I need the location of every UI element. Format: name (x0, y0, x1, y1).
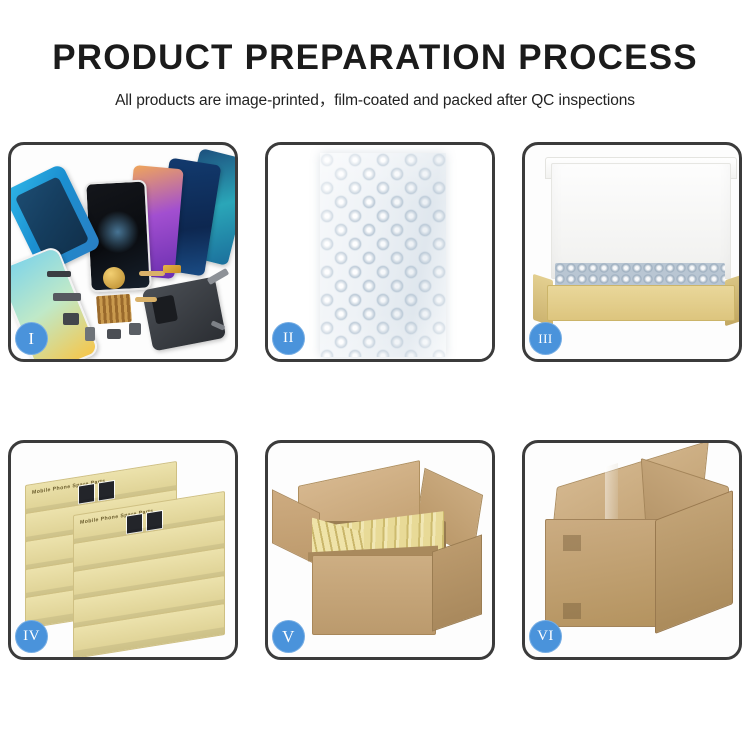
step-panel-iv: Mobile Phone Spare Parts Mobile Phone Sp… (8, 440, 238, 660)
small-part-1 (47, 271, 71, 277)
step-badge-v: V (272, 620, 305, 653)
process-grid: I II III (8, 142, 742, 672)
step-panel-v: V (265, 440, 495, 660)
scene-products (11, 145, 235, 359)
bubble-wrapped-item (320, 153, 446, 357)
step-badge-ii: II (272, 322, 305, 355)
step-panel-ii: II (265, 142, 495, 362)
flex-cable-2 (135, 297, 157, 302)
step-badge-i: I (15, 322, 48, 355)
flex-cable-1 (139, 271, 165, 276)
step-panel-iii: III (522, 142, 742, 362)
step-badge-iii: III (529, 322, 562, 355)
step-badge-vi: VI (529, 620, 562, 653)
scene-carton-filling (268, 443, 492, 657)
small-part-5 (107, 329, 121, 339)
box-edge (74, 627, 224, 657)
box-stack: Mobile Phone Spare Parts Mobile Phone Sp… (15, 457, 235, 653)
chip-grid-part (96, 294, 132, 324)
small-part-2 (53, 293, 81, 301)
header: PRODUCT PREPARATION PROCESS All products… (0, 0, 750, 110)
scene-bubble-wrap (268, 145, 492, 359)
carton-seam-top (563, 535, 581, 551)
carton-seam-bottom (563, 603, 581, 619)
box-front-panel (547, 285, 735, 321)
small-part-4 (85, 327, 95, 341)
carton-front-panel (312, 555, 436, 635)
tool-tweezer (207, 268, 230, 285)
gold-part-1 (163, 265, 181, 273)
carton-side-panel (432, 534, 482, 631)
small-part-6 (129, 323, 141, 335)
page-title: PRODUCT PREPARATION PROCESS (0, 40, 750, 75)
infographic-page: PRODUCT PREPARATION PROCESS All products… (0, 0, 750, 750)
phone-back-housing (142, 277, 226, 352)
box-lid (551, 163, 731, 279)
step-panel-vi: VI (522, 440, 742, 660)
step-panel-i: I (8, 142, 238, 362)
page-subtitle: All products are image-printed，film-coat… (0, 88, 750, 110)
small-part-3 (63, 313, 79, 325)
gold-coin-part (103, 267, 125, 289)
scene-stacked-boxes: Mobile Phone Spare Parts Mobile Phone Sp… (11, 443, 235, 657)
step-badge-iv: IV (15, 620, 48, 653)
